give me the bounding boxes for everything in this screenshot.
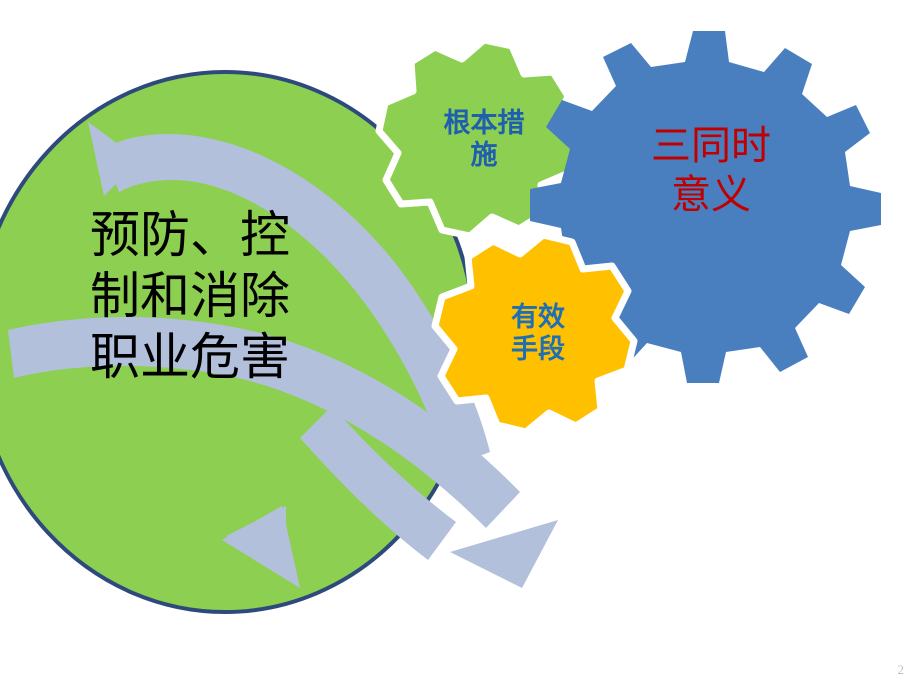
gear-green-label: 根本措 施 <box>414 108 554 172</box>
gear-yellow-label: 有效 手段 <box>468 302 608 366</box>
arrow-head-down-right <box>450 520 558 588</box>
prevention-circle-statement: 预防、控 制和消除 职业危害 <box>90 205 420 388</box>
slide-canvas: 预防、控 制和消除 职业危害 根本措 施 三同时 意义 有效 手段 2 <box>0 0 920 690</box>
gear-blue-label: 三同时 意义 <box>600 122 822 220</box>
page-number: 2 <box>898 662 905 678</box>
